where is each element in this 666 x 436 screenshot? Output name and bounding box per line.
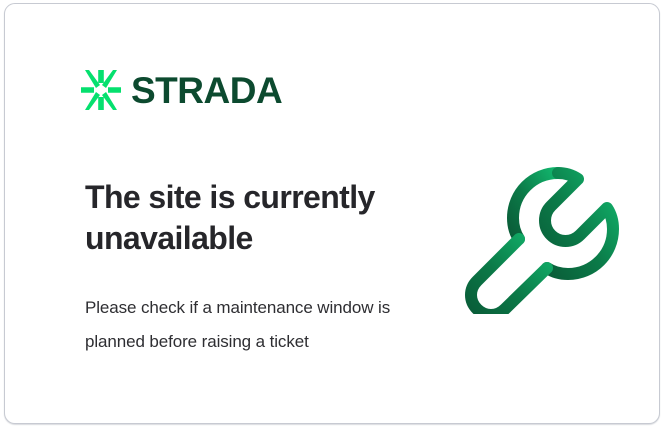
- error-page: STRADA The site is currently unavailable…: [0, 0, 666, 436]
- strada-asterisk-icon: [81, 70, 121, 110]
- brand-wordmark: STRADA: [131, 72, 282, 109]
- page-title: The site is currently unavailable: [85, 177, 435, 259]
- status-card: STRADA The site is currently unavailable…: [4, 3, 660, 424]
- page-description: Please check if a maintenance window is …: [85, 291, 395, 359]
- brand-logo: STRADA: [81, 70, 282, 110]
- wrench-icon: [455, 149, 630, 314]
